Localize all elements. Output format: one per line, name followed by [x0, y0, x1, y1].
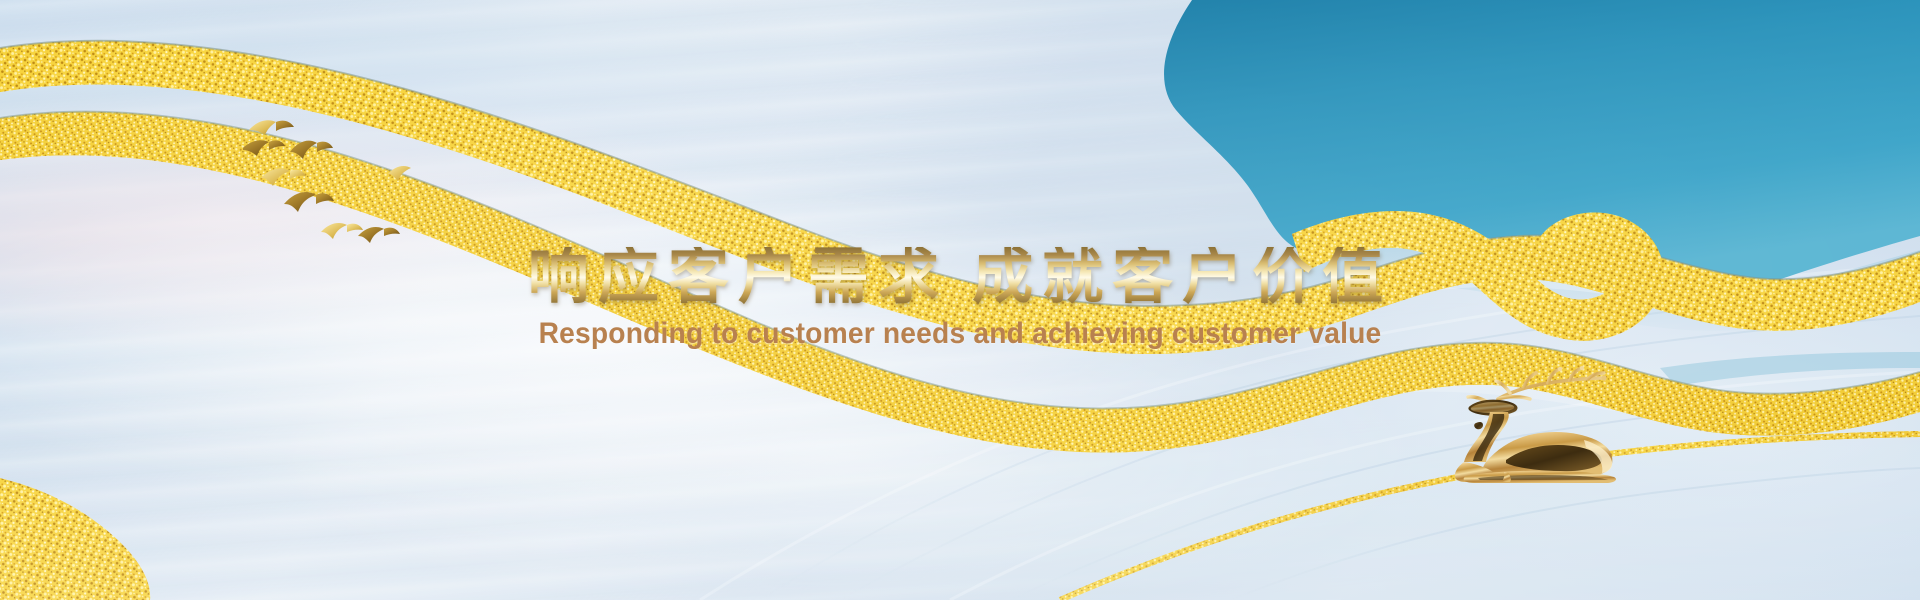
headline-english: Responding to customer needs and achievi… [58, 317, 1863, 351]
headline-chinese: 响应客户需求 成就客户价值 [0, 247, 1920, 308]
deer-sculpture-icon [1452, 366, 1648, 486]
gold-branch-icon [218, 372, 428, 532]
corner-gold-patch [0, 440, 200, 600]
flying-birds-icon [243, 108, 433, 243]
banner-text-block: 响应客户需求 成就客户价值 Responding to customer nee… [0, 247, 1920, 351]
hero-banner: 响应客户需求 成就客户价值 Responding to customer nee… [0, 0, 1920, 600]
